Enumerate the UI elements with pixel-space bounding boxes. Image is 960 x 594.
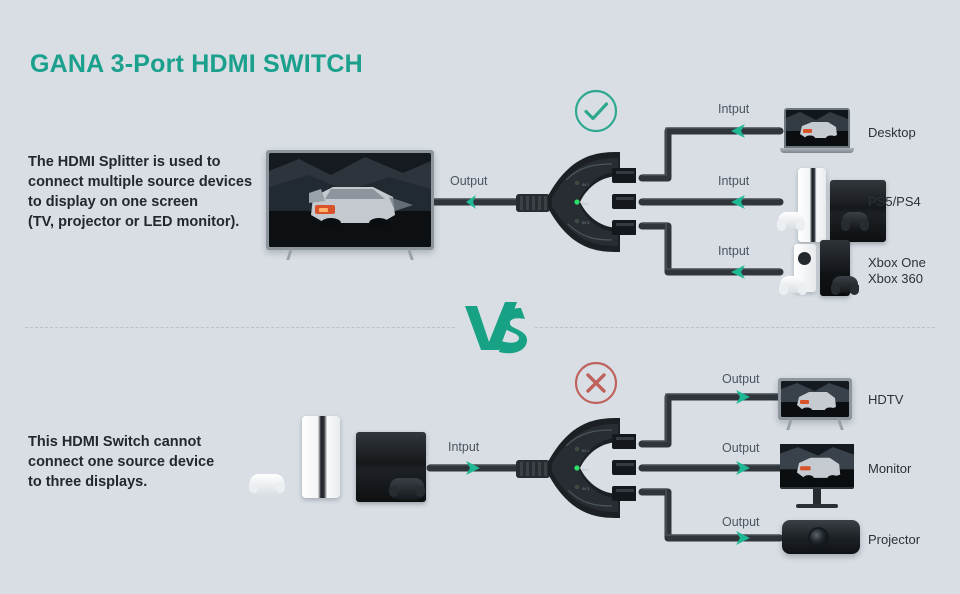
bottom-device-label-1: HDTV — [868, 392, 903, 408]
projector-icon — [782, 520, 864, 558]
bottom-flow-label-2: Output — [722, 441, 760, 455]
source-playstation-icon — [244, 416, 434, 502]
infographic-canvas: GANA 3-Port HDMI SWITCH The HDMI Splitte… — [0, 0, 960, 594]
bottom-device-label-2: Monitor — [868, 461, 911, 477]
bottom-flow-label-1: Output — [722, 372, 760, 386]
svg-text:IN 3: IN 3 — [582, 486, 590, 491]
bottom-input-label: Intput — [448, 440, 479, 454]
svg-text:IN 2: IN 2 — [582, 467, 590, 472]
svg-text:IN 1: IN 1 — [582, 448, 590, 453]
hdmi-splitter-icon-bottom: IN 1IN 2IN 3 — [516, 416, 636, 520]
bottom-flow-label-3: Output — [722, 515, 760, 529]
monitor-icon — [780, 444, 856, 510]
bottom-device-label-3: Projector — [868, 532, 920, 548]
